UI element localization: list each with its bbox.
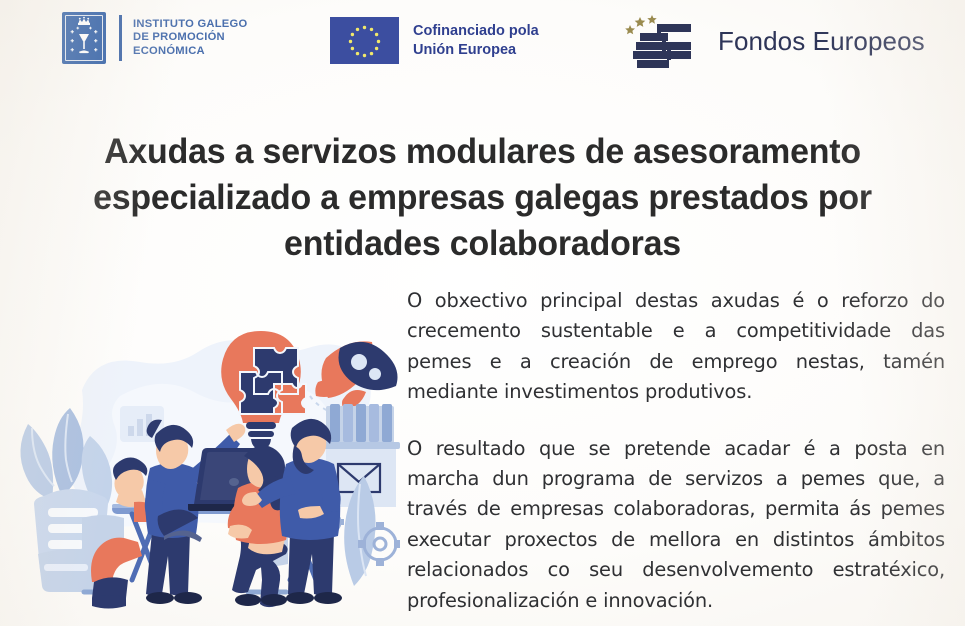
- body-copy: O obxectivo principal destas axudas é o …: [407, 286, 945, 616]
- team-collaboration-illustration: [8, 286, 400, 616]
- logo-divider: [119, 15, 122, 61]
- eu-logo-text: Cofinanciado pola Unión Europea: [413, 22, 539, 60]
- logo-bar: INSTITUTO GALEGO DE PROMOCIÓN ECONÓMICA: [0, 0, 965, 88]
- logo-cofinanciado-pola-union-europea: Cofinanciado pola Unión Europea: [330, 17, 539, 64]
- logo-fondos-europeos: Fondos Europeos: [618, 10, 925, 72]
- fondos-europeos-text: Fondos Europeos: [718, 26, 925, 57]
- galicia-coat-of-arms-icon: [62, 12, 106, 64]
- eu-flag-icon: [330, 17, 399, 64]
- fondos-europeos-steps-icon: [618, 10, 710, 72]
- poster-page: INSTITUTO GALEGO DE PROMOCIÓN ECONÓMICA: [0, 0, 965, 626]
- igape-logo-text: INSTITUTO GALEGO DE PROMOCIÓN ECONÓMICA: [133, 18, 247, 58]
- paragraph-objective: O obxectivo principal destas axudas é o …: [407, 286, 945, 408]
- page-title: Axudas a servizos modulares de asesorame…: [60, 128, 905, 266]
- logo-instituto-galego-de-promocion-economica: INSTITUTO GALEGO DE PROMOCIÓN ECONÓMICA: [62, 12, 247, 64]
- paragraph-result: O resultado que se pretende acadar é a p…: [407, 434, 945, 616]
